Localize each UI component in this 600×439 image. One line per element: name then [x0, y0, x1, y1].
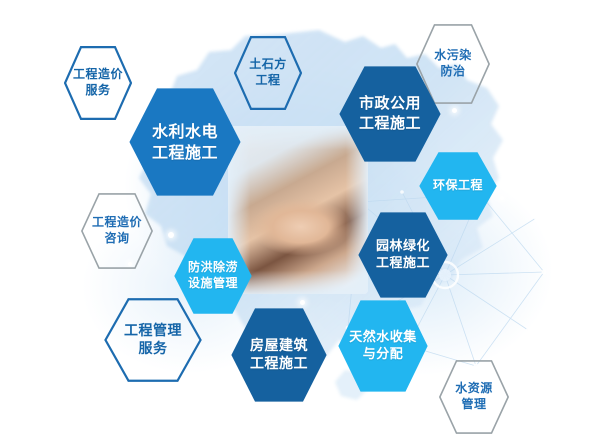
hexagon-label: 防洪除涝 设施管理 — [186, 260, 240, 292]
hexagon-label: 天然水收集 与分配 — [347, 329, 419, 363]
hexagon-water-conservancy-hydropower-construction[interactable]: 水利水电 工程施工 — [129, 88, 241, 196]
hexagon-engineering-cost-consulting[interactable]: 工程造价 咨询 — [81, 193, 153, 269]
hexagon-municipal-public-works-construction[interactable]: 市政公用 工程施工 — [339, 66, 441, 162]
hexagon-label: 工程管理 服务 — [122, 322, 184, 359]
hexagon-building-construction-engineering[interactable]: 房屋建筑 工程施工 — [231, 308, 327, 402]
infographic-canvas: 工程造价 服务土石方 工程水污染 防治市政公用 工程施工水利水电 工程施工环保工… — [0, 0, 600, 439]
hexagon-landscape-greening-construction[interactable]: 园林绿化 工程施工 — [358, 212, 448, 298]
hexagon-label: 园林绿化 工程施工 — [374, 238, 432, 272]
hexagon-label: 水资源 管理 — [453, 381, 495, 413]
hexagon-water-resources-management[interactable]: 水资源 管理 — [439, 360, 509, 434]
hexagon-engineering-management-service[interactable]: 工程管理 服务 — [104, 298, 202, 382]
hexagon-label: 水利水电 工程施工 — [150, 121, 220, 163]
hexagon-label: 房屋建筑 工程施工 — [248, 337, 310, 374]
hexagon-earthwork-engineering[interactable]: 土石方 工程 — [234, 36, 302, 110]
hexagon-label: 水污染 防治 — [432, 48, 474, 80]
hexagon-label: 工程造价 咨询 — [90, 215, 144, 247]
hexagon-environmental-protection-engineering[interactable]: 环保工程 — [419, 152, 497, 220]
hexagon-label: 环保工程 — [431, 178, 485, 194]
hexagon-natural-water-collection-distribution[interactable]: 天然水收集 与分配 — [338, 300, 428, 392]
hexagon-engineering-cost-service[interactable]: 工程造价 服务 — [64, 46, 132, 120]
hexagon-layer: 工程造价 服务土石方 工程水污染 防治市政公用 工程施工水利水电 工程施工环保工… — [0, 0, 600, 439]
hexagon-label: 工程造价 服务 — [71, 67, 125, 99]
hexagon-label: 市政公用 工程施工 — [357, 94, 423, 134]
hexagon-label: 土石方 工程 — [247, 57, 289, 89]
